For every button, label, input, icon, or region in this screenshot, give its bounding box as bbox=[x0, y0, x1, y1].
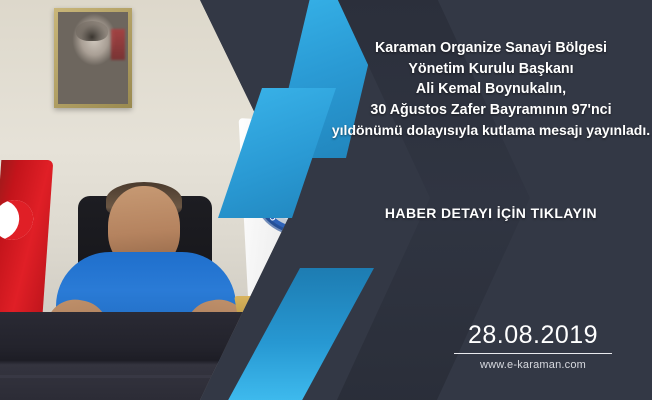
date-block: 28.08.2019 www.e-karaman.com bbox=[440, 320, 626, 371]
read-more-cta[interactable]: HABER DETAYI İÇİN TIKLAYIN bbox=[330, 205, 652, 221]
headline-line-5: yıldönümü dolayısıyla kutlama mesajı yay… bbox=[330, 120, 652, 141]
osb-text-bottom: SANAYİ BÖ bbox=[255, 184, 276, 222]
headline: Karaman Organize Sanayi Bölgesi Yönetim … bbox=[330, 38, 652, 141]
headline-line-3: Ali Kemal Boynukalın, bbox=[330, 79, 652, 100]
office-desk bbox=[0, 312, 310, 400]
office-photo: ★ 1990 ORGANIZE SANAYİ BÖ bbox=[0, 0, 310, 400]
date-divider bbox=[454, 353, 612, 354]
site-url: www.e-karaman.com bbox=[440, 359, 626, 371]
headline-line-2: Yönetim Kurulu Başkanı bbox=[330, 59, 652, 80]
blue-chevron-bottom bbox=[226, 268, 446, 400]
flag-pole-base bbox=[234, 296, 276, 340]
osb-logo-text: ORGANIZE SANAYİ BÖ bbox=[247, 135, 310, 241]
news-banner: ★ 1990 ORGANIZE SANAYİ BÖ bbox=[0, 0, 652, 400]
headline-line-1: Karaman Organize Sanayi Bölgesi bbox=[330, 38, 652, 59]
publish-date: 28.08.2019 bbox=[440, 320, 626, 350]
headline-line-4: 30 Ağustos Zafer Bayramının 97'nci bbox=[330, 100, 652, 121]
portrait-hair bbox=[76, 21, 108, 41]
desk-edge bbox=[0, 375, 310, 378]
portrait-inner bbox=[58, 12, 128, 104]
flag-star-icon: ★ bbox=[8, 212, 31, 236]
osb-logo: 1990 ORGANIZE SANAYİ BÖ bbox=[247, 135, 310, 241]
osb-text-top: ORGANIZE bbox=[294, 175, 310, 210]
portrait-red-accent bbox=[111, 29, 125, 60]
ataturk-portrait-frame bbox=[54, 8, 132, 108]
